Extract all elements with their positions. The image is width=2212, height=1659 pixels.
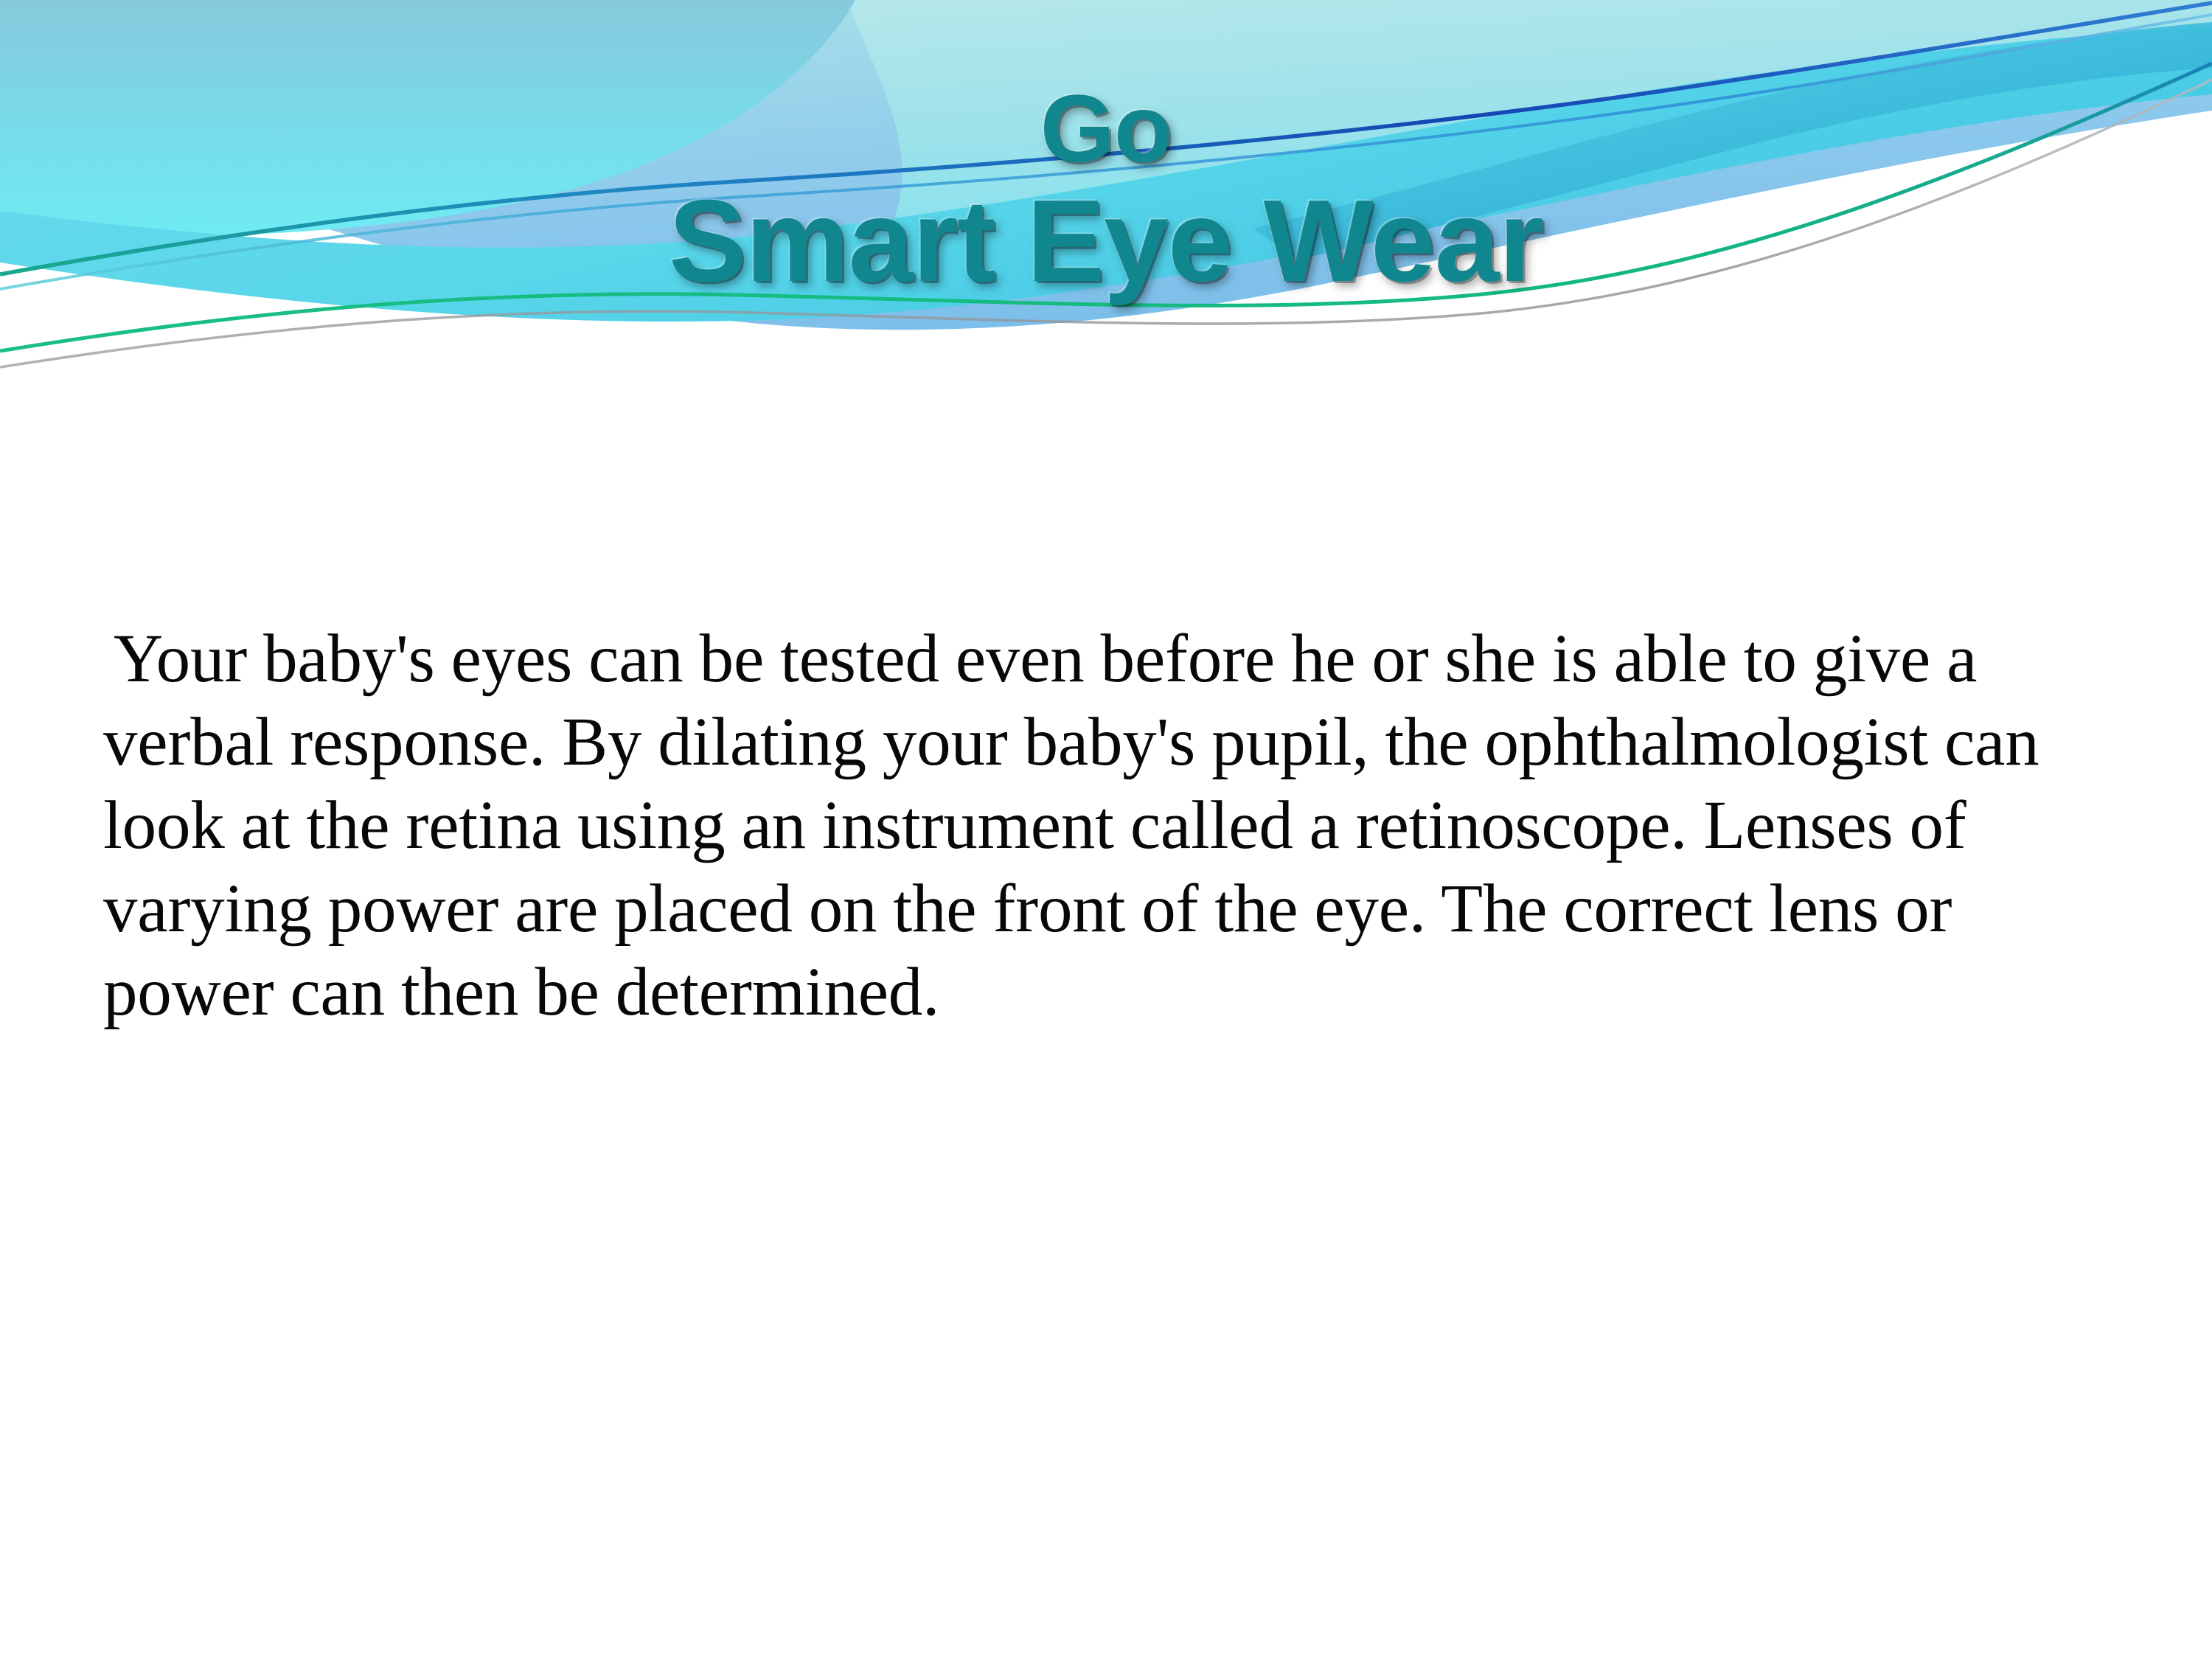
body-paragraph: Your baby's eyes can be tested even befo… <box>103 618 2116 1034</box>
slide: Go Smart Eye Wear Your baby's eyes can b… <box>0 0 2212 1659</box>
slide-title: Go Smart Eye Wear <box>0 80 2212 301</box>
title-line-go: Go <box>0 80 2212 178</box>
slide-body: Your baby's eyes can be tested even befo… <box>103 618 2116 1034</box>
title-line-smart-eye-wear: Smart Eye Wear <box>0 182 2212 301</box>
